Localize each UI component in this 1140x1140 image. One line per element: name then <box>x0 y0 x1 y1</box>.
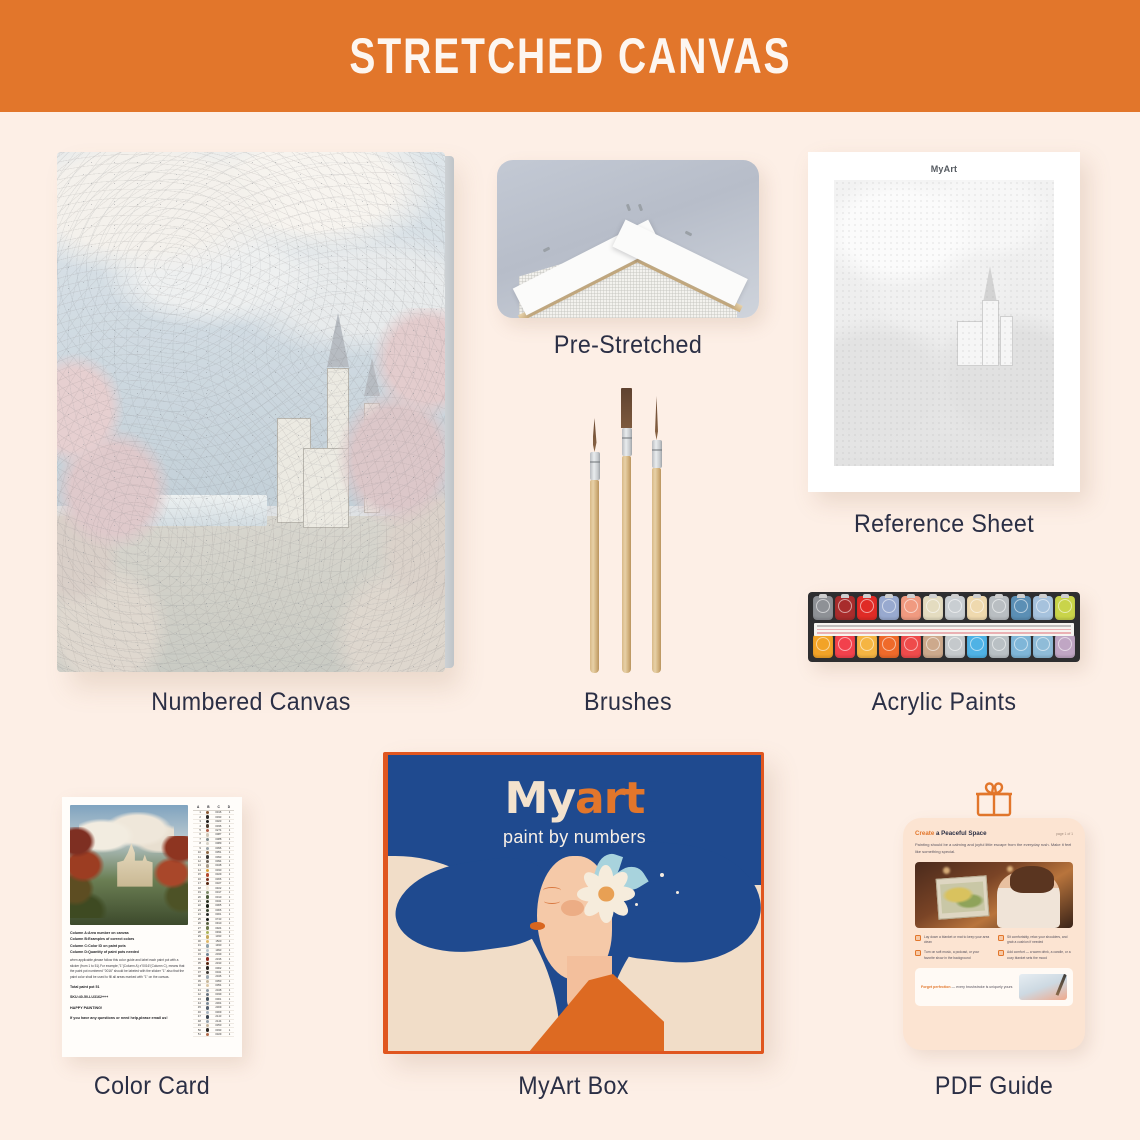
legend-area-number: 40 <box>193 984 203 987</box>
paint-pot <box>1055 596 1075 620</box>
legend-color-swatch <box>203 931 212 934</box>
pdf-tip-item: Turn on soft music, a podcast, or your f… <box>915 950 990 961</box>
legend-quantity: 1 <box>225 829 234 832</box>
legend-area-number: 12 <box>193 860 203 863</box>
legend-rows: 1001612003313002314003615027416008717008… <box>193 811 234 1037</box>
canvas-number-dots <box>57 152 445 672</box>
legend-header-d: D <box>224 805 234 809</box>
pdf-tip-item: Add comfort — a warm drink, a candle, or… <box>998 950 1073 961</box>
paint-pot-lid <box>948 637 962 651</box>
daisy-flower-icon <box>582 867 630 920</box>
paint-pot-tab <box>841 594 849 598</box>
pdf-highlight-photo <box>1019 974 1067 1000</box>
legend-quantity: 1 <box>225 1020 234 1023</box>
legend-color-swatch <box>203 838 212 841</box>
legend-quantity: 1 <box>225 998 234 1001</box>
legend-color-id: 0051 <box>212 851 225 854</box>
canvas-face <box>57 152 445 672</box>
paint-pot-tab <box>1017 594 1025 598</box>
legend-header-c: C <box>214 805 224 809</box>
paint-pot-lid <box>816 637 830 651</box>
reference-sheet-label: Reference Sheet <box>818 510 1071 539</box>
paint-pot-lid <box>1014 599 1028 613</box>
pdf-highlight-text: Forget perfection — every brushstroke is… <box>921 984 1013 990</box>
legend-quantity: 1 <box>225 1033 234 1036</box>
legend-quantity: 1 <box>225 980 234 983</box>
legend-quantity: 1 <box>225 878 234 881</box>
legend-color-swatch <box>203 984 212 987</box>
pdf-page-number: page 1 of 1 <box>1056 832 1073 836</box>
tip-text: Add comfort — a warm drink, a candle, or… <box>1007 950 1073 961</box>
pdf-tip-item: Sit comfortably, relax your shoulders, a… <box>998 935 1073 946</box>
box-tagline: paint by numbers <box>388 827 761 848</box>
legend-area-number: 49 <box>193 1024 203 1027</box>
legend-area-number: 32 <box>193 949 203 952</box>
paint-pot-lid <box>970 637 984 651</box>
legend-color-swatch <box>203 878 212 881</box>
paint-pot-lid <box>860 599 874 613</box>
tip-text: Turn on soft music, a podcast, or your f… <box>924 950 990 961</box>
reference-sheet-artwork <box>834 180 1054 466</box>
legend-color-id: 0087 <box>212 833 225 836</box>
legend-color-swatch <box>203 820 212 823</box>
legend-area-number: 47 <box>193 1015 203 1018</box>
legend-color-id: 0054 <box>212 984 225 987</box>
legend-color-id: 0066 <box>212 909 225 912</box>
legend-color-id: 0096 <box>212 847 225 850</box>
color-card-legend: A B C D 10016120033130023140036150274160… <box>193 805 234 1049</box>
legend-area-number: 14 <box>193 869 203 872</box>
legend-area-number: 46 <box>193 1011 203 1014</box>
legend-color-swatch <box>203 886 212 889</box>
legend-color-id: 0033 <box>212 1029 225 1032</box>
legend-area-number: 22 <box>193 904 203 907</box>
legend-color-swatch <box>203 935 212 938</box>
eyebrow <box>543 887 562 894</box>
pre-stretched-image <box>497 160 759 318</box>
legend-color-swatch <box>203 904 212 907</box>
paint-pot <box>1011 634 1031 658</box>
reference-sheet-paper: MyArt <box>808 152 1080 492</box>
legend-area-number: 41 <box>193 989 203 992</box>
color-card-instructions: when applicable,please follow this color… <box>70 958 188 980</box>
legend-area-number: 37 <box>193 971 203 974</box>
legend-area-number: 17 <box>193 882 203 885</box>
legend-area-number: 42 <box>193 993 203 996</box>
paint-pot <box>923 634 943 658</box>
legend-color-swatch <box>203 900 212 903</box>
brush-flat <box>622 388 631 673</box>
legend-area-number: 11 <box>193 856 203 859</box>
legend-area-number: 4 <box>193 825 203 828</box>
legend-color-swatch <box>203 1033 212 1036</box>
myart-box-image: Myart paint by numbers <box>383 752 764 1054</box>
gift-icon <box>972 778 1016 823</box>
legend-quantity: 1 <box>225 860 234 863</box>
legend-quantity: 1 <box>225 989 234 992</box>
page-title: STRETCHED CANVAS <box>349 27 791 85</box>
legend-area-number: 13 <box>193 864 203 867</box>
reference-sheet-logo: MyArt <box>808 164 1080 174</box>
legend-color-swatch <box>203 922 212 925</box>
legend-color-id: 0016 <box>212 811 225 814</box>
legend-color-swatch <box>203 873 212 876</box>
legend-area-number: 25 <box>193 918 203 921</box>
legend-color-swatch <box>203 944 212 947</box>
legend-area-number: 35 <box>193 962 203 965</box>
legend-area-number: 48 <box>193 1020 203 1023</box>
legend-color-swatch <box>203 909 212 912</box>
acrylic-paints-image <box>808 592 1080 662</box>
legend-quantity: 1 <box>225 975 234 978</box>
legend-area-number: 27 <box>193 927 203 930</box>
paint-pot-lid <box>1058 637 1072 651</box>
paint-pot-lid <box>1036 637 1050 651</box>
legend-area-number: 3 <box>193 820 203 823</box>
legend-quantity: 1 <box>225 931 234 934</box>
legend-color-swatch <box>203 882 212 885</box>
legend-color-id: 0910 <box>212 922 225 925</box>
legend-area-number: 9 <box>193 847 203 850</box>
legend-color-id: 0089 <box>212 842 225 845</box>
paint-pot-lid <box>882 637 896 651</box>
legend-color-id: 0053 <box>212 980 225 983</box>
legend-area-number: 6 <box>193 833 203 836</box>
legend-quantity: 1 <box>225 935 234 938</box>
pdf-subtitle: Painting should be a calming and joyful … <box>915 842 1073 856</box>
legend-quantity: 1 <box>225 962 234 965</box>
legend-area-number: 21 <box>193 900 203 903</box>
paint-pot-lid <box>1058 599 1072 613</box>
legend-quantity: 1 <box>225 838 234 841</box>
legend-color-id: 0934 <box>212 931 225 934</box>
paint-pot <box>857 596 877 620</box>
pdf-guide-label: PDF Guide <box>886 1072 1102 1101</box>
legend-quantity: 1 <box>225 851 234 854</box>
legend-quantity: 1 <box>225 864 234 867</box>
legend-color-id: 0094 <box>212 860 225 863</box>
legend-color-id: 2196 <box>212 958 225 961</box>
legend-quantity: 1 <box>225 940 234 943</box>
brush-liner <box>652 396 661 673</box>
legend-color-id: 1033 <box>212 935 225 938</box>
legend-color-id: 1930 <box>212 944 225 947</box>
brushes-image <box>578 388 678 673</box>
paint-pot <box>1033 596 1053 620</box>
paint-pot <box>879 596 899 620</box>
legend-color-id: 0924 <box>212 927 225 930</box>
lips <box>530 922 545 930</box>
legend-quantity: 1 <box>225 842 234 845</box>
paint-pot <box>901 634 921 658</box>
legend-color-swatch <box>203 842 212 845</box>
acrylic-paints-label: Acrylic Paints <box>818 688 1071 717</box>
legend-quantity: 1 <box>225 904 234 907</box>
legend-area-number: 36 <box>193 967 203 970</box>
paint-pot <box>1033 634 1053 658</box>
legend-area-number: 8 <box>193 842 203 845</box>
numbered-canvas-image <box>57 152 445 672</box>
legend-quantity: 1 <box>225 882 234 885</box>
paint-pot <box>1011 596 1031 620</box>
paint-pot-lid <box>926 637 940 651</box>
legend-quantity: 1 <box>225 887 234 890</box>
legend-color-id: 0023 <box>212 820 225 823</box>
legend-area-number: 2 <box>193 816 203 819</box>
legend-area-number: 16 <box>193 878 203 881</box>
legend-quantity: 1 <box>225 825 234 828</box>
legend-color-swatch <box>203 953 212 956</box>
legend-quantity: 1 <box>225 971 234 974</box>
tip-bullet-icon <box>998 935 1004 941</box>
tip-text: Sit comfortably, relax your shoulders, a… <box>1007 935 1073 946</box>
legend-quantity: 1 <box>225 949 234 952</box>
legend-area-number: 15 <box>193 873 203 876</box>
legend-color-swatch <box>203 860 212 863</box>
legend-quantity: 1 <box>225 984 234 987</box>
legend-quantity: 1 <box>225 918 234 921</box>
sparkle-dot <box>635 903 638 906</box>
legend-color-swatch <box>203 811 212 814</box>
canvas-side-edge <box>444 156 454 668</box>
legend-color-swatch <box>203 891 212 894</box>
legend-color-swatch <box>203 833 212 836</box>
legend-color-id: 0366 <box>212 878 225 881</box>
paint-pot-lid <box>992 637 1006 651</box>
legend-quantity: 1 <box>225 1024 234 1027</box>
logo-art-text: art <box>575 773 644 824</box>
happy-painting-text: HAPPY PAINTING! <box>70 1005 188 1012</box>
photo-trees-left <box>70 827 117 918</box>
legend-quantity: 1 <box>225 820 234 823</box>
paint-pot-lid <box>904 637 918 651</box>
legend-area-number: 43 <box>193 998 203 1001</box>
legend-color-id: 0402 <box>212 887 225 890</box>
paint-pot-tab <box>929 594 937 598</box>
legend-color-id: 1993 <box>212 949 225 952</box>
legend-quantity: 1 <box>225 927 234 930</box>
pdf-tip-item: Lay down a blanket or mat to keep your a… <box>915 935 990 946</box>
legend-color-id: 2304 <box>212 1002 225 1005</box>
pdf-title-highlight: Create <box>915 830 934 837</box>
cheek-blush <box>561 900 583 916</box>
legend-color-swatch <box>203 957 212 960</box>
tip-text: Lay down a blanket or mat to keep your a… <box>924 935 990 946</box>
legend-area-number: 10 <box>193 851 203 854</box>
legend-color-id: 0001 <box>212 998 225 1001</box>
legend-color-swatch <box>203 966 212 969</box>
color-card-label: Color Card <box>48 1072 256 1101</box>
pdf-guide-image: Create a Peaceful Space page 1 of 1 Pain… <box>903 778 1085 1050</box>
legend-quantity: 1 <box>225 993 234 996</box>
legend-area-number: 23 <box>193 909 203 912</box>
paint-pot-lid <box>992 599 1006 613</box>
legend-color-id: 0329 <box>212 873 225 876</box>
legend-quantity: 1 <box>225 1015 234 1018</box>
numbered-canvas-label: Numbered Canvas <box>71 688 432 717</box>
legend-color-swatch <box>203 962 212 965</box>
photo-trees-right <box>143 836 188 920</box>
legend-quantity: 1 <box>225 1006 234 1009</box>
legend-quantity: 1 <box>225 953 234 956</box>
legend-color-id: 0041 <box>212 971 225 974</box>
legend-color-swatch <box>203 913 212 916</box>
pre-stretched-photo <box>497 160 759 318</box>
legend-area-number: 26 <box>193 922 203 925</box>
paint-pot-tab <box>973 594 981 598</box>
legend-color-swatch <box>203 855 212 858</box>
staple-icon <box>638 204 643 212</box>
paint-pot <box>945 634 965 658</box>
legend-color-id: 0002 <box>212 967 225 970</box>
sku-code: SKU:40-50-LU3162+++ <box>70 994 188 1000</box>
legend-color-swatch <box>203 851 212 854</box>
color-card-left: Column A:Area number on canvas Column B:… <box>70 805 188 1049</box>
legend-area-number: 45 <box>193 1006 203 1009</box>
legend-area-number: 5 <box>193 829 203 832</box>
legend-area-number: 20 <box>193 896 203 899</box>
legend-color-swatch <box>203 829 212 832</box>
legend-quantity: 1 <box>225 1029 234 1032</box>
legend-color-id: 0743 <box>212 918 225 921</box>
legend-color-swatch <box>203 824 212 827</box>
paint-pot <box>857 634 877 658</box>
legend-color-swatch <box>203 997 212 1000</box>
paint-pot-lid <box>1036 599 1050 613</box>
reference-sheet-image: MyArt <box>808 152 1080 492</box>
color-card: Column A:Area number on canvas Column B:… <box>62 797 242 1057</box>
paint-pot-tab <box>1061 594 1069 598</box>
brushes-label: Brushes <box>535 688 721 717</box>
paint-pot <box>923 596 943 620</box>
pdf-tips-grid: Lay down a blanket or mat to keep your a… <box>915 935 1073 962</box>
legend-quantity: 1 <box>225 1002 234 1005</box>
legend-area-number: 18 <box>193 887 203 890</box>
legend-color-id: 0030 <box>212 869 225 872</box>
paint-pot-tab <box>951 594 959 598</box>
legend-color-id: 0010 <box>212 896 225 899</box>
legend-area-number: 44 <box>193 1002 203 1005</box>
tip-bullet-icon <box>915 935 921 941</box>
paint-pot <box>813 634 833 658</box>
legend-quantity: 1 <box>225 869 234 872</box>
staple-icon <box>626 204 631 212</box>
legend-quantity: 1 <box>225 891 234 894</box>
highlight-bold: Forget perfection <box>921 985 951 989</box>
paint-pot <box>813 596 833 620</box>
legend-color-id: 0088 <box>212 838 225 841</box>
paint-pot-lid <box>904 599 918 613</box>
legend-color-id: 2193 <box>212 962 225 965</box>
legend-area-number: 31 <box>193 944 203 947</box>
legend-color-id: 0309 <box>212 1011 225 1014</box>
legend-color-swatch <box>203 993 212 996</box>
paint-pot-lid <box>1014 637 1028 651</box>
paint-pot <box>967 596 987 620</box>
paint-pot <box>967 634 987 658</box>
staple-icon <box>543 247 551 253</box>
paint-row-top <box>813 596 1075 620</box>
legend-area-number: 38 <box>193 975 203 978</box>
legend-quantity: 1 <box>225 873 234 876</box>
pre-stretched-label: Pre-Stretched <box>506 331 750 360</box>
color-card-image: Column A:Area number on canvas Column B:… <box>62 797 242 1057</box>
paint-pot <box>901 596 921 620</box>
paint-pot <box>945 596 965 620</box>
pdf-highlight-box: Forget perfection — every brushstroke is… <box>915 968 1073 1006</box>
legend-color-swatch <box>203 1015 212 1018</box>
legend-color-swatch <box>203 918 212 921</box>
paint-pot <box>879 634 899 658</box>
color-card-photo <box>70 805 188 925</box>
legend-color-swatch <box>203 940 212 943</box>
legend-quantity: 1 <box>225 967 234 970</box>
legend-color-id: 0301 <box>212 913 225 916</box>
legend-quantity: 1 <box>225 811 234 814</box>
paint-pot-tab <box>819 594 827 598</box>
paint-pot-tab <box>1039 594 1047 598</box>
legend-area-number: 51 <box>193 1033 203 1036</box>
paint-pot <box>835 634 855 658</box>
highlight-rest: — every brushstroke is uniquely yours <box>951 985 1013 989</box>
legend-quantity: 1 <box>225 913 234 916</box>
paint-pot-lid <box>816 599 830 613</box>
legend-color-swatch <box>203 1024 212 1027</box>
legend-color-swatch <box>203 926 212 929</box>
legend-quantity: 1 <box>225 896 234 899</box>
legend-area-number: 33 <box>193 953 203 956</box>
pdf-guide-sheet: Create a Peaceful Space page 1 of 1 Pain… <box>903 818 1085 1050</box>
paint-pot-tab <box>885 594 893 598</box>
paint-pot-lid <box>882 599 896 613</box>
paint-pot-tab <box>907 594 915 598</box>
legend-color-id: 0039 <box>212 993 225 996</box>
paint-pot-lid <box>838 637 852 651</box>
legend-color-swatch <box>203 975 212 978</box>
legend-header-b: B <box>203 805 213 809</box>
legend-color-swatch <box>203 864 212 867</box>
total-paint-pot: Total paint pot 51 <box>70 984 188 990</box>
contact-text: If you have any questions or need help,p… <box>70 1015 188 1022</box>
tip-bullet-icon <box>915 950 921 956</box>
legend-quantity: 1 <box>225 847 234 850</box>
legend-quantity: 1 <box>225 856 234 859</box>
legend-color-swatch <box>203 1002 212 1005</box>
box-face: Myart paint by numbers <box>388 755 761 1051</box>
myart-box-label: MyArt Box <box>396 1072 750 1101</box>
brush-round <box>590 418 599 673</box>
paint-pot-lid <box>948 599 962 613</box>
legend-area-number: 34 <box>193 958 203 961</box>
logo-my-text: My <box>505 773 575 824</box>
pdf-guide-photo <box>915 862 1073 928</box>
staple-icon <box>685 231 693 237</box>
legend-quantity: 1 <box>225 944 234 947</box>
legend-quantity: 1 <box>225 816 234 819</box>
legend-color-id: 0093 <box>212 856 225 859</box>
myart-logo: Myart <box>388 773 761 824</box>
paint-pot-lid <box>838 599 852 613</box>
legend-color-id: 0327 <box>212 882 225 885</box>
legend-color-swatch <box>203 1028 212 1031</box>
legend-quantity: 1 <box>225 833 234 836</box>
legend-color-id: 2046 <box>212 975 225 978</box>
tip-bullet-icon <box>998 950 1004 956</box>
legend-header-a: A <box>193 805 203 809</box>
legend-area-number: 7 <box>193 838 203 841</box>
legend-color-id: 2309 <box>212 1006 225 1009</box>
legend-color-swatch <box>203 847 212 850</box>
